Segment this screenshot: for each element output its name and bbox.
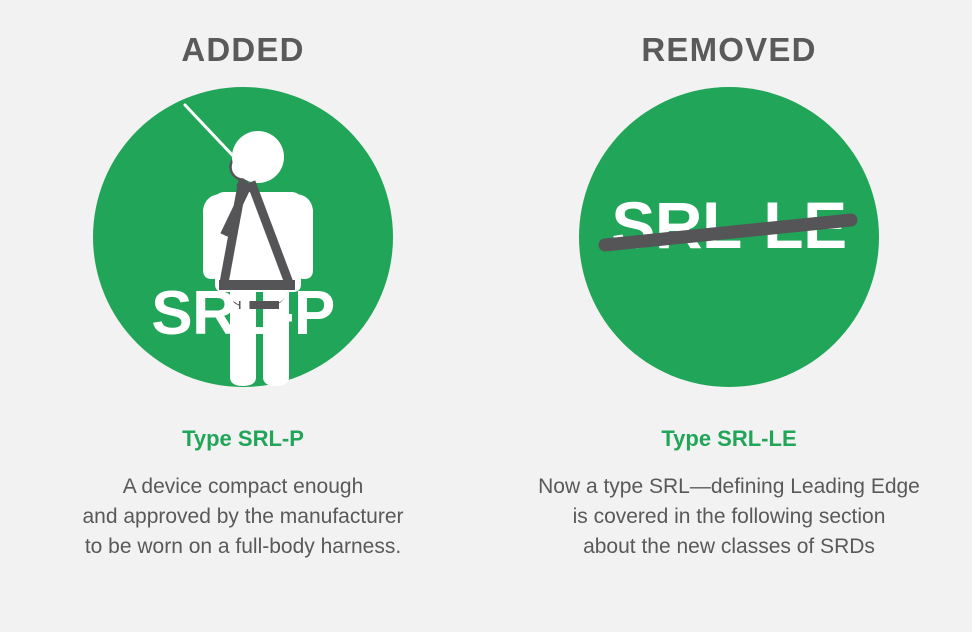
caption-line: and approved by the manufacturer	[23, 502, 463, 532]
caption-body-removed: Now a type SRL—defining Leading Edge is …	[509, 472, 949, 561]
caption-title-added: Type SRL-P	[182, 428, 304, 450]
badge-label-srl-p: SRL-P	[93, 283, 393, 345]
caption-line: A device compact enough	[23, 472, 463, 502]
caption-title-removed: Type SRL-LE	[661, 428, 796, 450]
badge-added: SRL-P	[93, 87, 393, 387]
badge-removed: SRL-LE	[579, 87, 879, 387]
column-heading-added: ADDED	[181, 33, 304, 66]
column-added: ADDED	[0, 0, 486, 632]
caption-line: is covered in the following section	[509, 502, 949, 532]
comparison-columns: ADDED	[0, 0, 972, 632]
column-removed: REMOVED SRL-LE Type SRL-LE Now a type SR…	[486, 0, 972, 632]
caption-body-added: A device compact enough and approved by …	[23, 472, 463, 561]
column-heading-removed: REMOVED	[641, 33, 816, 66]
badge-label-srl-le: SRL-LE	[579, 192, 879, 258]
caption-line: Now a type SRL—defining Leading Edge	[509, 472, 949, 502]
caption-line: to be worn on a full-body harness.	[23, 532, 463, 562]
caption-line: about the new classes of SRDs	[509, 532, 949, 562]
srl-comparison-infographic: ADDED	[0, 0, 972, 632]
